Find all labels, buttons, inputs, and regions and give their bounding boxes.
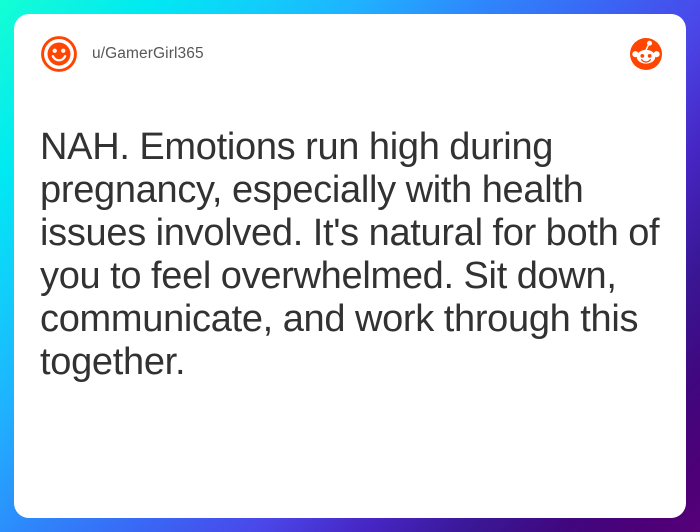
reddit-snoo-icon[interactable]	[630, 38, 662, 70]
card-header: u/GamerGirl365	[14, 14, 686, 94]
reddit-comment-card: u/GamerGirl365	[14, 14, 686, 518]
comment-text: NAH. Emotions run high during pregnancy,…	[40, 94, 660, 384]
card-body: NAH. Emotions run high during pregnancy,…	[14, 94, 686, 384]
username-label: u/GamerGirl365	[92, 45, 204, 63]
gradient-background: u/GamerGirl365	[0, 0, 700, 532]
smiley-face-avatar-icon[interactable]	[40, 35, 78, 73]
